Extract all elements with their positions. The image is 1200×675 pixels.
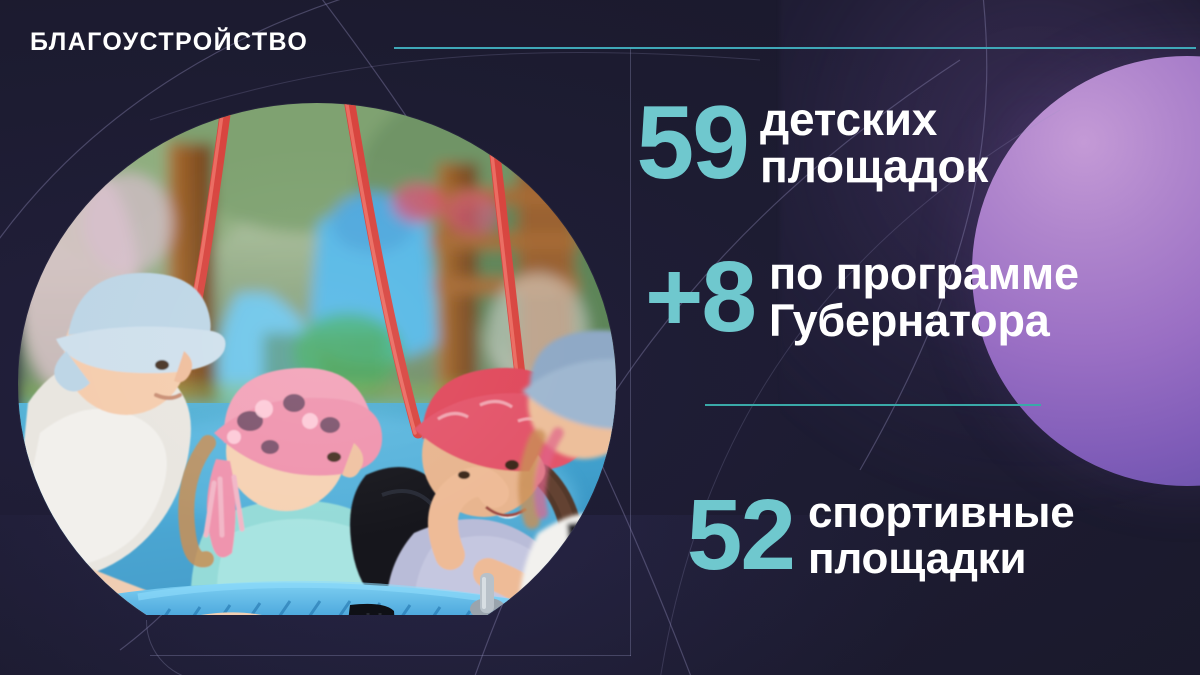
stat-item-playgrounds: 59 детских площадок (608, 94, 988, 193)
frame-line-horizontal (150, 655, 631, 656)
stat-label-line-2: площадки (808, 536, 1075, 582)
photo-clip (18, 103, 616, 615)
stat-item-sports-grounds: 52 спортивные площадки (674, 488, 1075, 583)
stats-block: 59 детских площадок +8 по программе Губе… (600, 0, 1200, 675)
stat-label-line-2: площадок (760, 143, 988, 191)
stat-number: +8 (620, 250, 755, 345)
stat-label-line-1: по программе (769, 251, 1079, 298)
stat-label-line-2: Губернатора (769, 298, 1079, 345)
page-title: БЛАГОУСТРОЙСТВО (30, 30, 308, 55)
stats-divider (705, 404, 1041, 406)
playground-photo-illustration (18, 103, 616, 615)
stat-label: по программе Губернатора (769, 251, 1079, 345)
stat-label-line-1: спортивные (808, 490, 1075, 536)
stat-number: 52 (674, 488, 794, 583)
stat-label-line-1: детских (760, 96, 988, 144)
stat-label: детских площадок (760, 96, 988, 192)
slide-root: БЛАГОУСТРОЙСТВО (0, 0, 1200, 675)
stat-label: спортивные площадки (808, 490, 1075, 582)
stat-number: 59 (608, 94, 748, 193)
stat-item-governor-program: +8 по программе Губернатора (620, 250, 1079, 345)
photo-circle (18, 103, 616, 615)
